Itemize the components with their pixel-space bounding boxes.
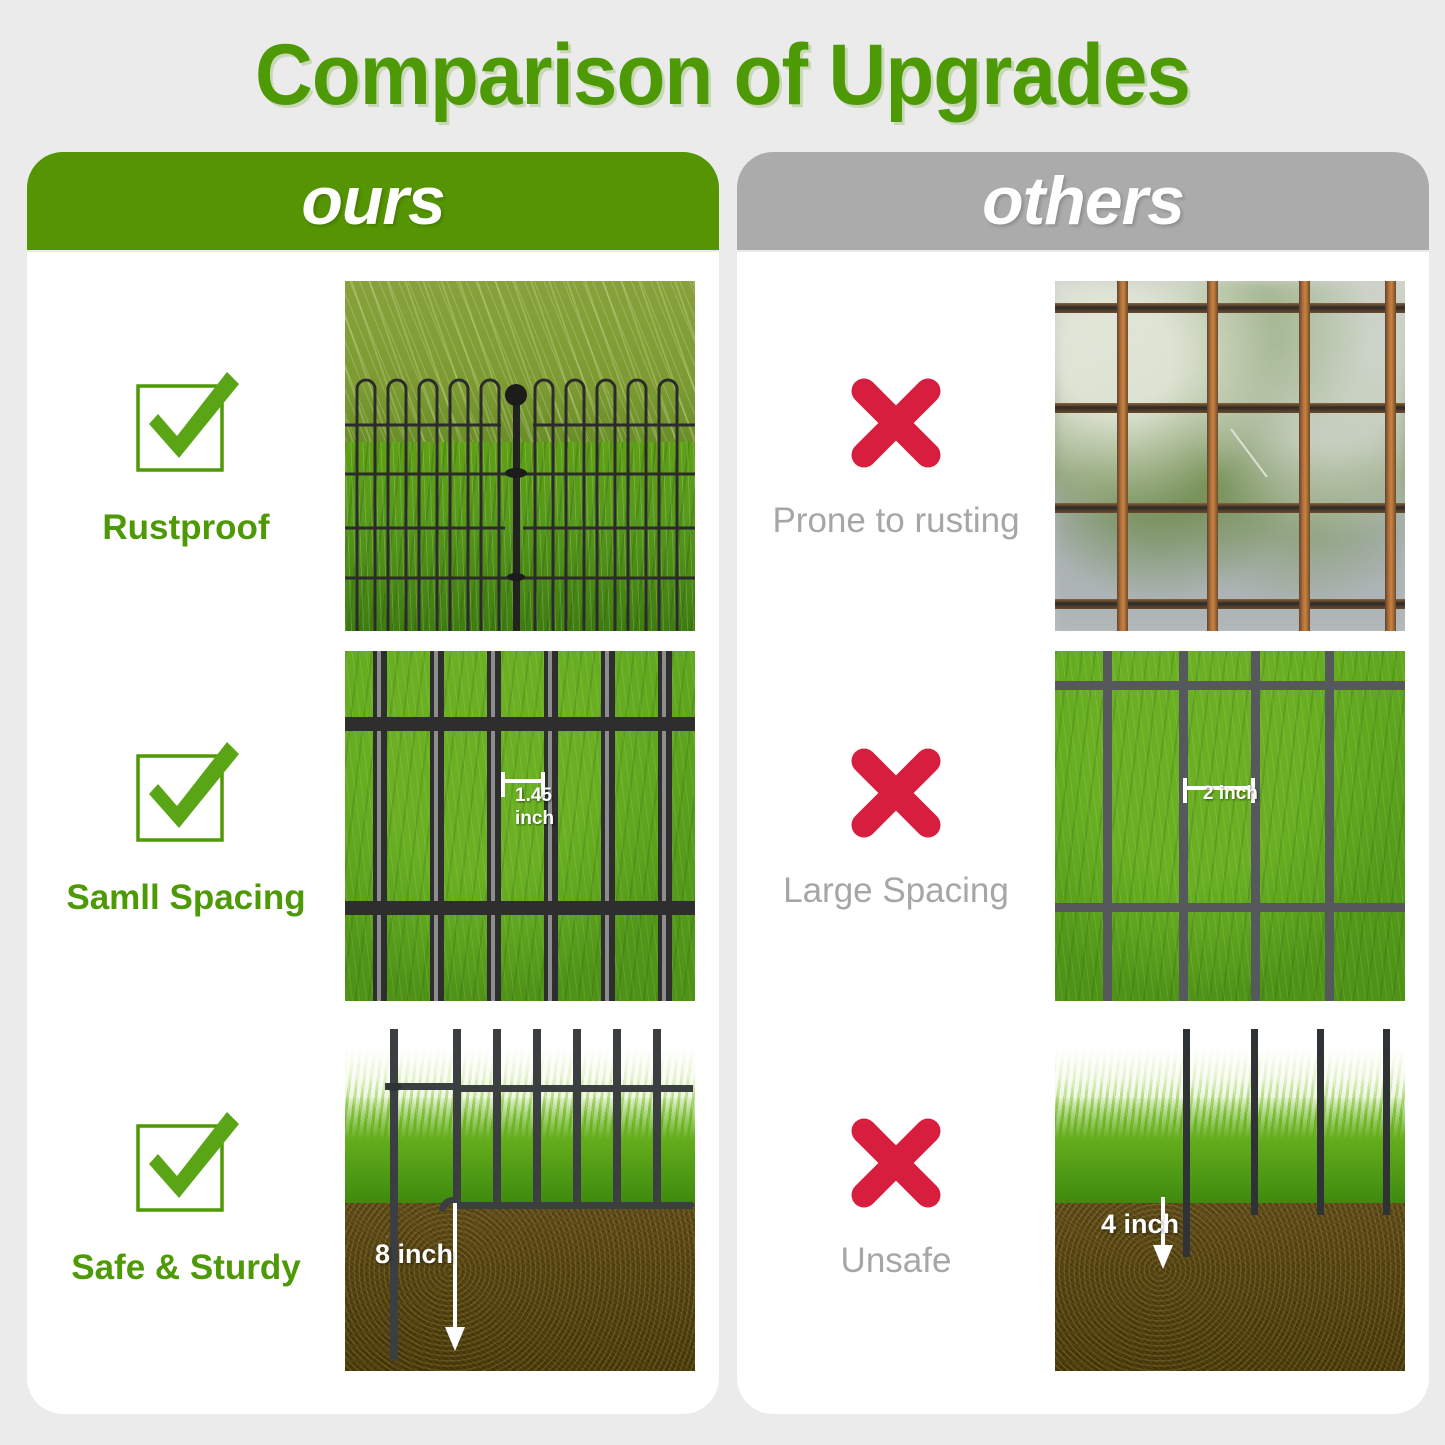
feature-row-large-spacing: Large Spacing [737,640,1429,1012]
column-header-label-others: others [982,162,1184,240]
shallow-stake-fence-graphic [1055,1021,1405,1371]
feature-label-group-large-spacing: Large Spacing [737,741,1055,911]
rusty-grid-graphic [1055,281,1405,631]
depth-label-8-inch: 8 inch [375,1239,453,1270]
dimension-label-2-inch: 2 inch [1203,782,1258,805]
x-icon [844,371,948,475]
feature-row-unsafe: Unsafe [737,1010,1429,1382]
wide-bar-spacing-photo: 2 inch [1055,651,1405,1001]
deep-ground-stake-photo: 8 inch [345,1021,695,1371]
page-title: Comparison of Upgrades [51,26,1395,125]
depth-label-4-inch: 4 inch [1101,1209,1179,1240]
feature-row-safe-sturdy: Safe & Sturdy [27,1010,719,1382]
column-others: others Prone to rusting [737,152,1429,1414]
wide-bars-graphic [1055,651,1405,1001]
column-header-others: others [737,152,1429,250]
check-icon [127,1104,245,1222]
feature-label-small-spacing: Samll Spacing [66,878,305,918]
column-header-label-ours: ours [301,162,444,240]
feature-row-prone-to-rusting: Prone to rusting [737,270,1429,642]
feature-label-safe-sturdy: Safe & Sturdy [71,1248,301,1288]
feature-label-group-small-spacing: Samll Spacing [27,734,345,918]
depth-arrowhead [445,1327,465,1351]
feature-label-group-safe-sturdy: Safe & Sturdy [27,1104,345,1288]
dimension-label-1-45-inch: 1.45 inch [515,784,554,830]
feature-label-unsafe: Unsafe [841,1241,952,1281]
comparison-columns: ours Rustproof [0,152,1445,1414]
feature-label-group-prone-to-rusting: Prone to rusting [737,371,1055,541]
feature-row-small-spacing: Samll Spacing [27,640,719,1012]
column-ours: ours Rustproof [27,152,719,1414]
depth-arrowhead [1153,1245,1173,1269]
feature-row-rustproof: Rustproof [27,270,719,642]
feature-label-rustproof: Rustproof [102,508,269,548]
check-icon [127,364,245,482]
feature-label-group-rustproof: Rustproof [27,364,345,548]
rain-on-black-fence-photo [345,281,695,631]
feature-label-prone-to-rusting: Prone to rusting [772,501,1019,541]
check-icon [127,734,245,852]
narrow-bar-spacing-photo: 1.45 inch [345,651,695,1001]
deep-stake-fence-graphic [345,1021,695,1371]
black-arch-fence-graphic [345,281,695,631]
column-body-ours: Rustproof [27,252,719,1414]
column-header-ours: ours [27,152,719,250]
post-finial [505,384,527,631]
feature-label-large-spacing: Large Spacing [783,871,1009,911]
rusty-mesh-photo [1055,281,1405,631]
shallow-ground-stake-photo: 4 inch [1055,1021,1405,1371]
feature-label-group-unsafe: Unsafe [737,1111,1055,1281]
x-icon [844,1111,948,1215]
x-icon [844,741,948,845]
column-body-others: Prone to rusting [737,252,1429,1414]
